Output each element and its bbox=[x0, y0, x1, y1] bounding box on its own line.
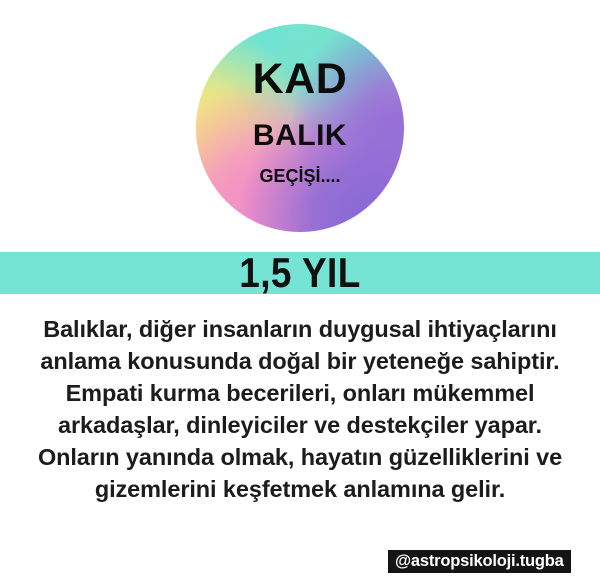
account-handle-watermark: @astropsikoloji.tugba bbox=[388, 550, 571, 573]
badge-subtitle: GEÇİŞİ.... bbox=[259, 167, 340, 185]
zodiac-badge: KAD BALIK GEÇİŞİ.... bbox=[196, 24, 404, 232]
badge-text-group: KAD BALIK GEÇİŞİ.... bbox=[196, 24, 404, 232]
badge-sign-label: BALIK bbox=[253, 121, 347, 151]
description-paragraph: Balıklar, diğer insanların duygusal ihti… bbox=[30, 313, 570, 505]
badge-title: KAD bbox=[253, 58, 348, 101]
duration-label: 1,5 YIL bbox=[36, 245, 564, 301]
